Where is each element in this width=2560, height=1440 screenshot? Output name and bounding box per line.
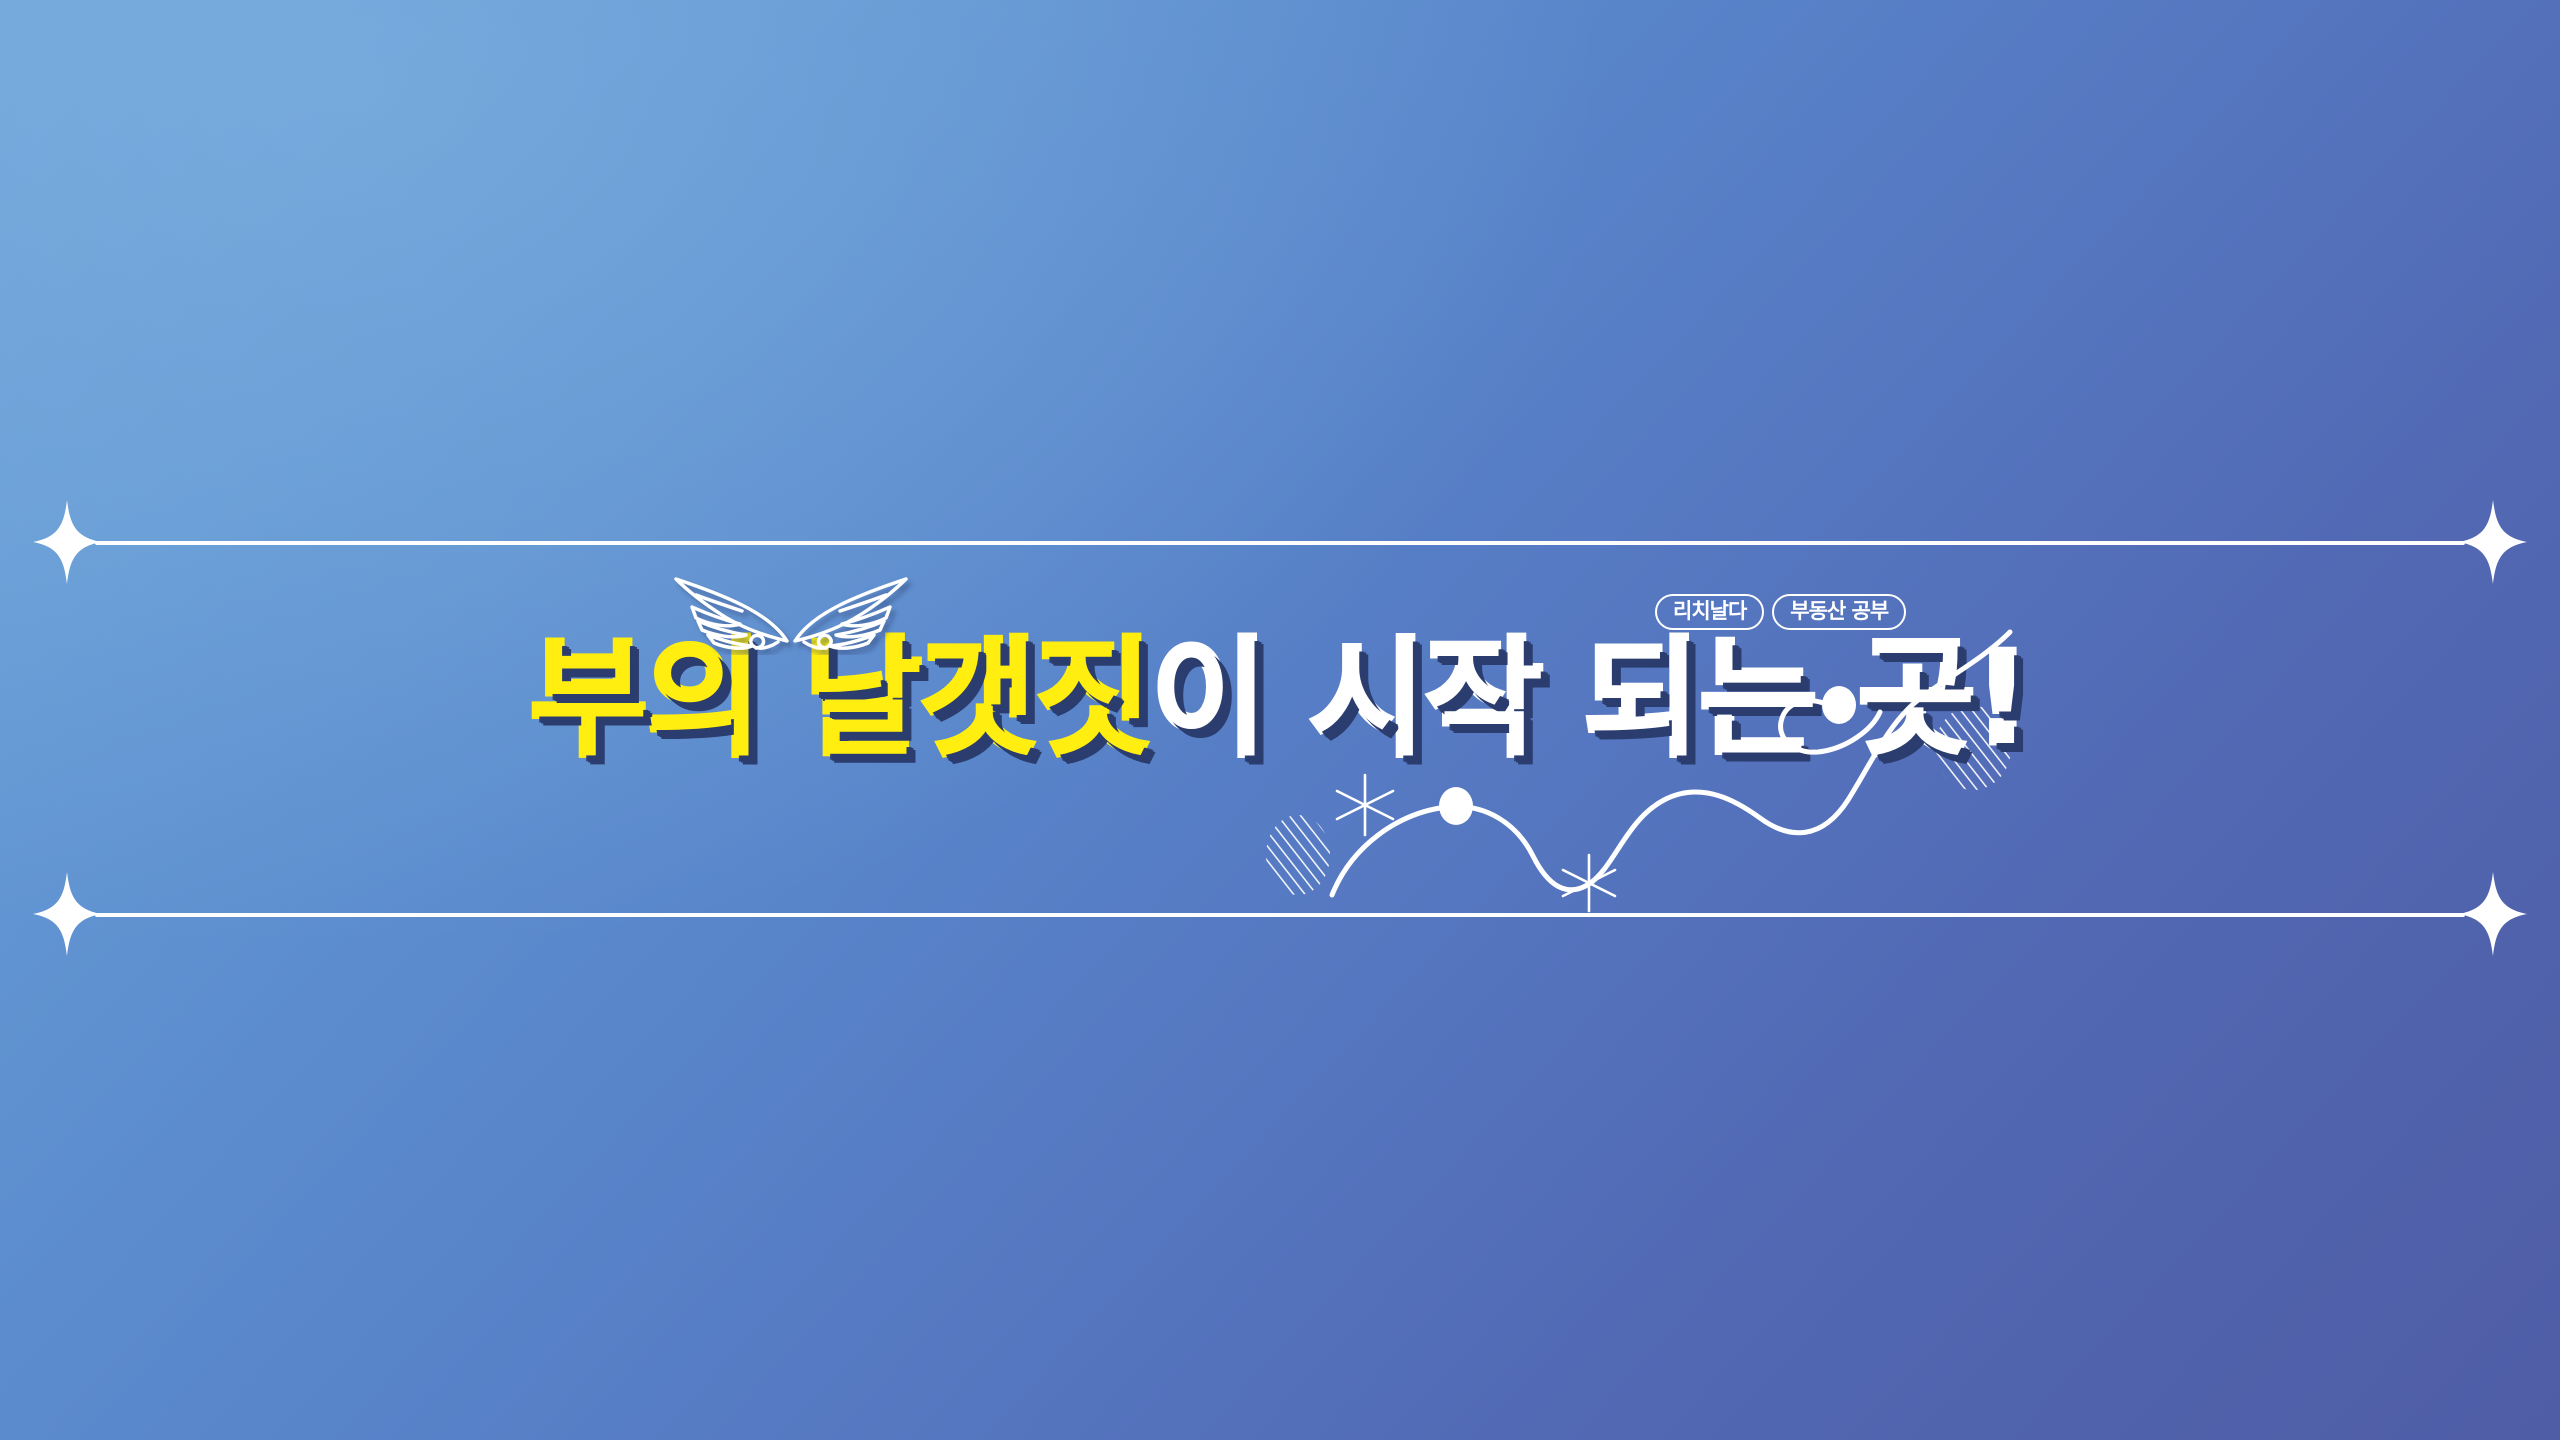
page-title: 부의 날갯짓이 시작 되는 곳! (0, 636, 2560, 764)
sparkle-asterisk-lower (1563, 855, 1615, 911)
sparkle-asterisk-upper (1337, 775, 1393, 835)
sparkle-star-bottom-left (31, 870, 103, 958)
badge-group: 리치날다 부동산 공부 (1655, 594, 1906, 630)
badge-topic-label: 부동산 공부 (1790, 601, 1888, 622)
badge-brand-label: 리치날다 (1673, 601, 1746, 622)
top-rule-bar (95, 541, 2465, 545)
bottom-rule-bar (95, 913, 2465, 917)
badge-topic[interactable]: 부동산 공부 (1772, 594, 1906, 630)
sparkle-star-top-left (31, 498, 103, 586)
angel-wings-icon (666, 575, 916, 655)
hatched-circle-left (1266, 815, 1330, 895)
banner-canvas: 부의 날갯짓이 시작 되는 곳! (0, 0, 2560, 1440)
curve-dot-left (1439, 787, 1473, 825)
badge-brand[interactable]: 리치날다 (1655, 594, 1764, 630)
sparkle-star-bottom-right (2457, 870, 2529, 958)
bottom-divider-rule (55, 911, 2505, 917)
top-divider-rule (55, 539, 2505, 545)
sparkle-star-top-right (2457, 498, 2529, 586)
title-segment-white: 이 시작 되는 곳! (1151, 625, 2030, 774)
